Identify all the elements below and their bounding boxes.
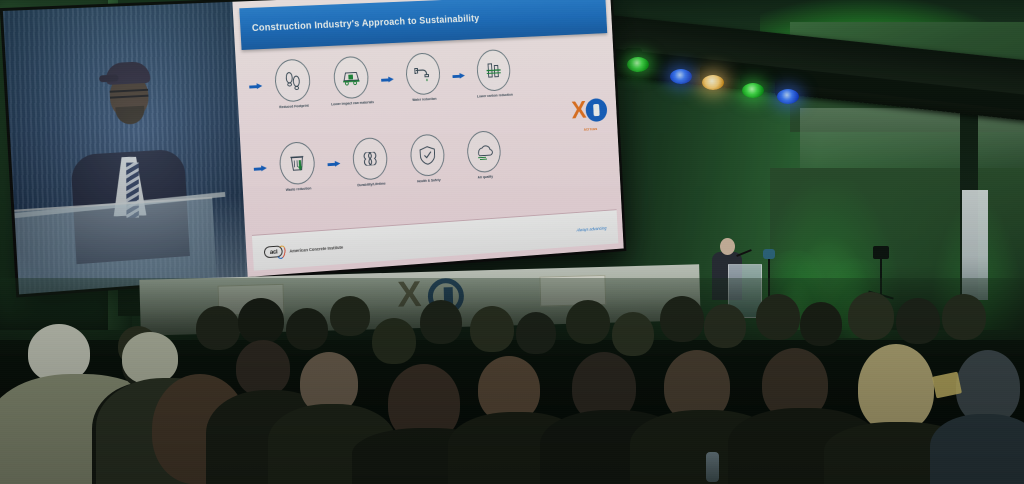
podium-microphone-icon [736, 249, 752, 257]
slide-item-air-quality: Air quality [456, 129, 513, 181]
organization-name: American Concrete Institute [289, 245, 343, 254]
slide-title: Construction Industry's Approach to Sust… [252, 13, 480, 33]
live-camera-feed [3, 2, 248, 295]
cylinder-icon [586, 98, 608, 122]
shield-check-icon [409, 133, 445, 177]
audience-head [236, 340, 290, 396]
stage-light-blue-icon [670, 69, 692, 84]
audience-head [196, 306, 240, 350]
audience-head [660, 296, 704, 342]
sustainability-row-2: Waste reduction Durability/Lifetime [252, 129, 512, 194]
arrow-icon [327, 160, 340, 167]
audience-head [956, 350, 1020, 424]
stage-light-green-icon [742, 83, 764, 98]
arrow-icon [249, 83, 262, 90]
footprints-icon [274, 59, 311, 103]
audience-head [942, 294, 986, 340]
organization-tagline: Always advancing [576, 226, 606, 233]
feed-vignette [3, 2, 248, 295]
slide-item-label: Air quality [478, 174, 494, 179]
slide-item-water-reduction: Water reduction [394, 52, 452, 104]
audience-head [286, 308, 328, 350]
aci-logo-icon: aci [264, 246, 283, 259]
projection-screen: Construction Industry's Approach to Sust… [0, 0, 626, 298]
stage-light-warm-icon [702, 75, 724, 90]
slide-item-lower-impact-raw-materials: Lower impact raw materials [322, 56, 381, 108]
audience-head [896, 298, 940, 344]
slide-item-label: Lower impact raw materials [331, 101, 374, 108]
anniversary-mark: X [571, 97, 587, 122]
audience-head [756, 294, 800, 340]
presentation-slide: Construction Industry's Approach to Sust… [233, 0, 624, 277]
slide-item-waste-reduction: Waste reduction [267, 140, 327, 193]
slide-item-label: Waste reduction [286, 186, 312, 192]
faucet-icon [405, 53, 441, 96]
slide-item-label: Lower carbon reduction [477, 93, 513, 99]
slide-title-bar: Construction Industry's Approach to Sust… [239, 0, 607, 50]
audience-head [238, 298, 284, 344]
audience-area [0, 278, 1024, 484]
slide-item-reduced-footprint: Reduced Footprint [263, 58, 323, 110]
audience-head [612, 312, 654, 356]
audience-head [858, 344, 934, 432]
quarry-truck-icon [333, 56, 370, 100]
audience-head [420, 300, 462, 344]
sustainability-row-1: Reduced Footprint Lower [248, 49, 522, 112]
anniversary-caption: ACI Years [573, 126, 609, 132]
arrow-icon [254, 165, 267, 173]
audience-head [122, 332, 178, 384]
slide-item-label: Health & Safety [417, 178, 441, 184]
audience-shoulders [930, 414, 1024, 484]
stage-light-green-icon [627, 57, 649, 72]
conference-hall-photo: Construction Industry's Approach to Sust… [0, 0, 1024, 484]
audience-head [330, 296, 370, 336]
slide-item-durability-lifetime: Durability/Lifetime [341, 136, 400, 189]
audience-head [516, 312, 556, 354]
slide-item-lower-carbon-reduction: Lower carbon reduction [465, 49, 522, 100]
audience-head [704, 304, 746, 348]
audience-head [566, 300, 610, 344]
audience-head [848, 292, 894, 340]
trash-can-down-arrow-icon [278, 141, 315, 185]
infinity-icon [352, 136, 389, 180]
stage-light-blue-icon [777, 89, 799, 104]
slide-item-label: Durability/Lifetime [357, 181, 386, 187]
cloud-air-icon [466, 130, 502, 173]
audience-head [372, 318, 416, 364]
anniversary-logo: X ACI Years [571, 92, 609, 131]
audience-head [800, 302, 842, 346]
slide-item-label: Water reduction [412, 97, 436, 103]
emissions-icon [476, 49, 511, 92]
right-wall-panel [800, 108, 1024, 172]
audience-head [470, 306, 514, 352]
arrow-icon [452, 72, 465, 79]
slide-item-health-safety: Health & Safety [399, 132, 457, 184]
aci-swoosh-icon [276, 245, 287, 260]
water-bottle [706, 452, 719, 482]
speaker-head [720, 238, 735, 255]
slide-item-label: Reduced Footprint [279, 104, 309, 110]
arrow-icon [381, 76, 394, 83]
